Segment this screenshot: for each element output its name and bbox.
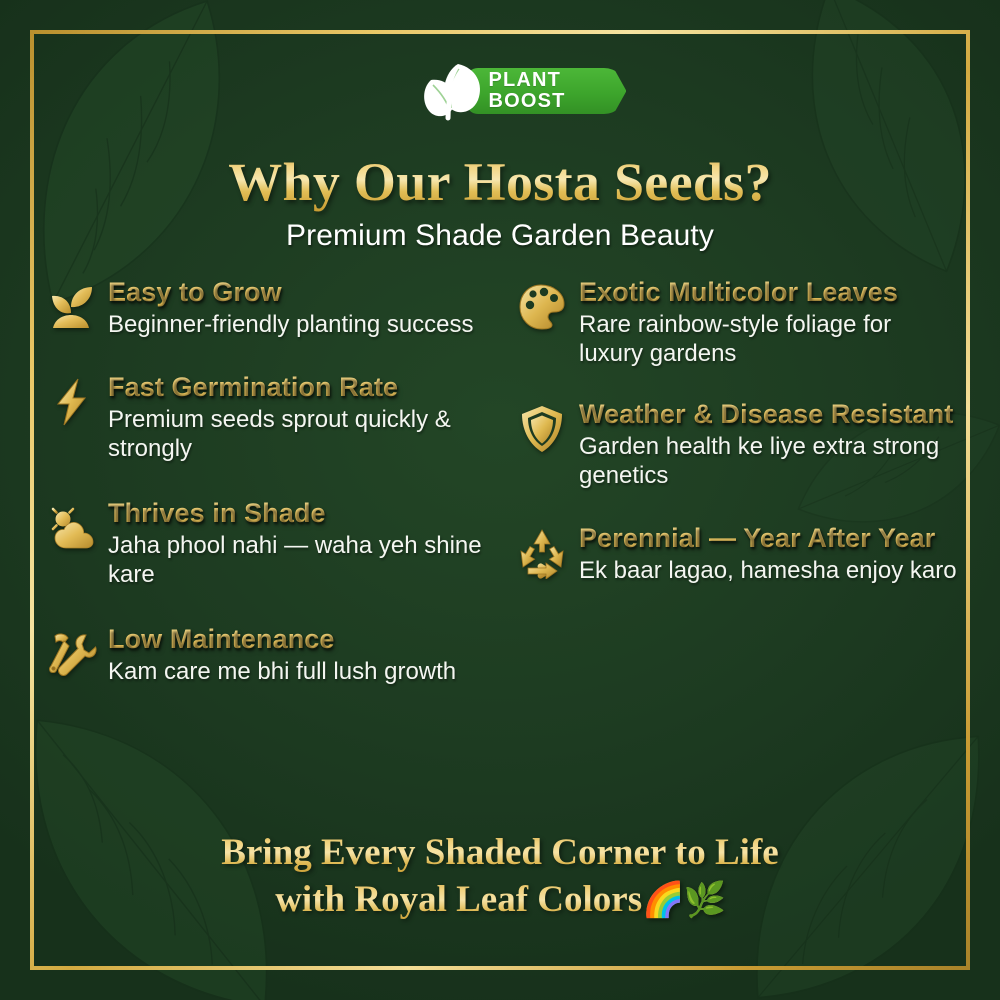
lightning-bolt-icon — [42, 373, 100, 431]
feature-title: Fast Germination Rate — [108, 371, 487, 403]
feature-title: Weather & Disease Resistant — [579, 398, 958, 430]
footer-line-1: Bring Every Shaded Corner to Life — [34, 829, 966, 876]
logo-wordmark: PLANT BOOST — [486, 68, 581, 114]
shield-icon — [513, 400, 571, 458]
sun-behind-cloud-icon — [42, 499, 100, 557]
feature-item: Exotic Multicolor Leaves Rare rainbow-st… — [513, 276, 958, 368]
feature-title: Thrives in Shade — [108, 497, 487, 529]
page-subtitle: Premium Shade Garden Beauty — [34, 218, 966, 254]
rainbow-and-herb-emoji: 🌈🌿 — [642, 882, 725, 919]
logo-line-2: BOOST — [488, 91, 565, 112]
two-leaves-icon — [418, 60, 492, 122]
feature-title: Easy to Grow — [108, 276, 487, 308]
feature-title: Perennial — Year After Year — [579, 522, 958, 554]
feature-desc: Ek baar lagao, hamesha enjoy karo — [579, 556, 958, 585]
footer-line-2-wrap: with Royal Leaf Colors🌈🌿 — [34, 876, 966, 924]
feature-desc: Beginner-friendly planting success — [108, 310, 487, 339]
page-title: Why Our Hosta Seeds? — [34, 152, 966, 212]
footer-tagline: Bring Every Shaded Corner to Life with R… — [34, 829, 966, 924]
brand-logo[interactable]: PLANT BOOST — [34, 60, 966, 122]
artist-palette-icon — [513, 278, 571, 336]
feature-desc: Rare rainbow-style foliage for luxury ga… — [579, 310, 958, 368]
feature-desc: Kam care me bhi full lush growth — [108, 657, 487, 686]
feature-item: Weather & Disease Resistant Garden healt… — [513, 398, 958, 490]
feature-item: Perennial — Year After Year Ek baar laga… — [513, 522, 958, 585]
recycle-icon — [513, 524, 571, 582]
feature-item: Low Maintenance Kam care me bhi full lus… — [42, 623, 487, 686]
feature-item: Fast Germination Rate Premium seeds spro… — [42, 371, 487, 463]
feature-item: Easy to Grow Beginner-friendly planting … — [42, 276, 487, 339]
feature-item: Thrives in Shade Jaha phool nahi — waha … — [42, 497, 487, 589]
feature-title: Low Maintenance — [108, 623, 487, 655]
feature-desc: Garden health ke liye extra strong genet… — [579, 432, 958, 490]
feature-desc: Premium seeds sprout quickly & strongly — [108, 405, 487, 463]
feature-title: Exotic Multicolor Leaves — [579, 276, 958, 308]
footer-line-2: with Royal Leaf Colors — [275, 879, 642, 920]
features-column-left: Easy to Grow Beginner-friendly planting … — [42, 276, 487, 712]
hammer-and-wrench-icon — [42, 625, 100, 683]
features-column-right: Exotic Multicolor Leaves Rare rainbow-st… — [513, 276, 958, 712]
features-grid: Easy to Grow Beginner-friendly planting … — [42, 276, 958, 712]
headline-block: Why Our Hosta Seeds? Premium Shade Garde… — [34, 152, 966, 254]
feature-desc: Jaha phool nahi — waha yeh shine kare — [108, 531, 487, 589]
seedling-icon — [42, 278, 100, 336]
promo-poster: PLANT BOOST Why Our Hosta Seeds? Premium… — [0, 0, 1000, 1000]
logo-line-1: PLANT — [488, 70, 565, 91]
